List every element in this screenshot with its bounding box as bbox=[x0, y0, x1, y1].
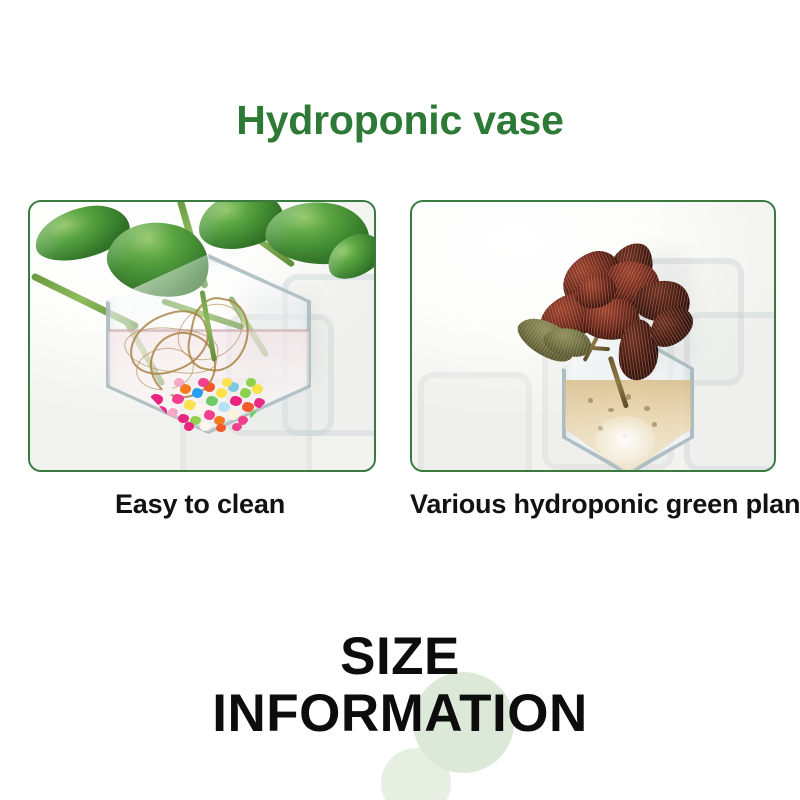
size-information-heading: SIZE INFORMATION bbox=[0, 628, 800, 742]
size-heading-line-1: SIZE bbox=[0, 628, 800, 685]
feature-caption-various-plants: Various hydroponic green plants bbox=[410, 488, 772, 520]
vase-highlight bbox=[595, 416, 655, 462]
feature-caption-easy-to-clean: Easy to clean bbox=[28, 488, 372, 520]
feature-panel-various-plants bbox=[410, 200, 776, 472]
product-photo-pothos-vase bbox=[30, 202, 374, 470]
backdrop-shape bbox=[684, 312, 774, 470]
size-heading-line-2: INFORMATION bbox=[0, 685, 800, 742]
page-title: Hydroponic vase bbox=[0, 98, 800, 143]
product-infographic: Hydroponic vase bbox=[0, 0, 800, 800]
substrate-speck bbox=[588, 398, 593, 403]
substrate-speck bbox=[644, 406, 650, 411]
backdrop-shape bbox=[418, 372, 532, 470]
product-photo-fittonia-vase bbox=[412, 202, 774, 470]
substrate-speck bbox=[652, 422, 657, 427]
substrate-speck bbox=[608, 408, 614, 412]
feature-panel-easy-to-clean bbox=[28, 200, 376, 472]
